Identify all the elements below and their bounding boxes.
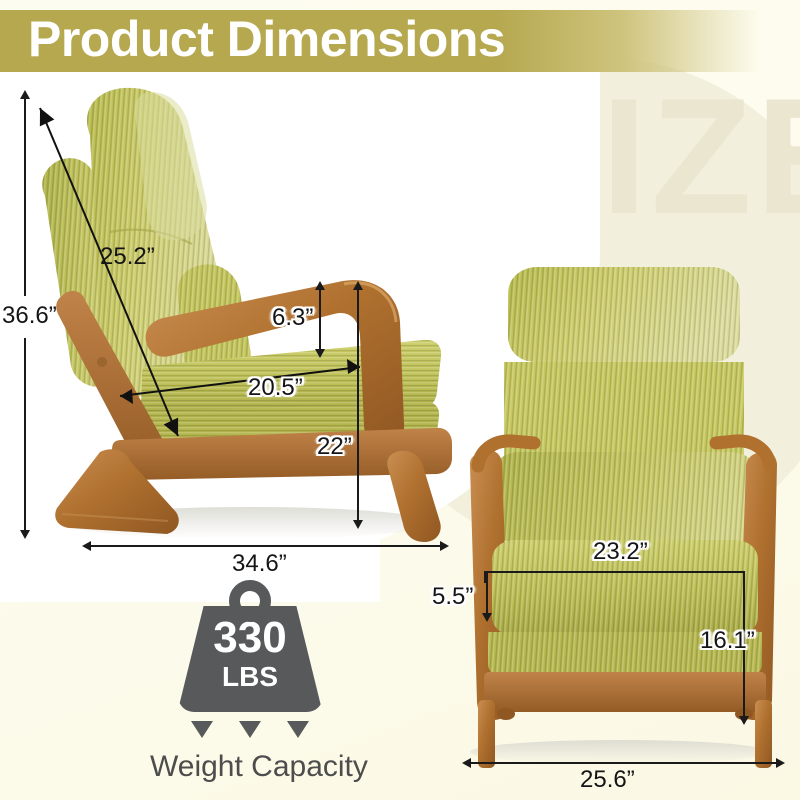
side-view-chair-illustration: [0, 0, 800, 800]
weight-capacity-badge: 330 LBS Weight Capacity: [150, 606, 350, 784]
weight-value: 330: [178, 616, 323, 660]
triangle-down-icon-1: [191, 721, 213, 738]
dim-arm-seat-label: 6.3”: [272, 304, 313, 332]
dim-seat-depth-label: 20.5”: [248, 374, 303, 402]
dim-seat-back-height-label: 22”: [317, 433, 352, 461]
dim-seat-width-label: 23.2”: [593, 538, 648, 566]
dim-seat-back-height-arrow-bottom: [353, 520, 363, 529]
infographic-canvas: SIZE Product Dimensions: [0, 0, 800, 800]
dim-overall-depth-arrow-right: [440, 541, 449, 551]
weight-capacity-caption: Weight Capacity: [150, 750, 350, 784]
dim-overall-width-arrow-right: [776, 758, 785, 768]
dim-overall-width-line: [470, 762, 778, 764]
dim-arm-seat-arrow-top: [315, 281, 325, 290]
dim-seat-height-arrow: [739, 716, 749, 725]
weight-handle-icon: [229, 580, 271, 622]
dim-cushion-thickness-label: 5.5”: [432, 583, 473, 611]
downward-arrows-group: [150, 721, 350, 738]
dim-overall-width-label: 25.6”: [580, 766, 635, 794]
triangle-down-icon-2: [239, 721, 261, 738]
dim-seat-height-label: 16.1”: [700, 627, 755, 655]
dim-overall-width-arrow-left: [462, 758, 471, 768]
dim-overall-height-label: 36.6”: [2, 302, 57, 330]
dim-backrest-height-label: 25.2”: [100, 243, 155, 271]
dim-seat-back-height-line: [357, 288, 359, 524]
dim-seat-back-height-arrow-top: [353, 281, 363, 290]
dim-overall-height-arrow-bottom: [20, 530, 30, 539]
dim-arm-seat-arrow-bottom: [315, 349, 325, 358]
dim-overall-height-arrow-top: [20, 90, 30, 99]
weight-unit: LBS: [178, 663, 323, 691]
dim-overall-height-line-bottom: [24, 338, 26, 534]
dim-cushion-thickness-line: [486, 571, 488, 617]
dim-overall-depth-line: [90, 545, 442, 547]
dim-overall-depth-label: 34.6”: [232, 550, 287, 578]
dim-overall-depth-arrow-left: [82, 541, 91, 551]
dim-cushion-thickness-arrow: [482, 613, 492, 622]
dim-arm-seat-line-b: [319, 295, 321, 350]
dim-seat-width-line: [484, 571, 744, 573]
dim-overall-height-line-top: [24, 96, 26, 296]
triangle-down-icon-3: [287, 721, 309, 738]
